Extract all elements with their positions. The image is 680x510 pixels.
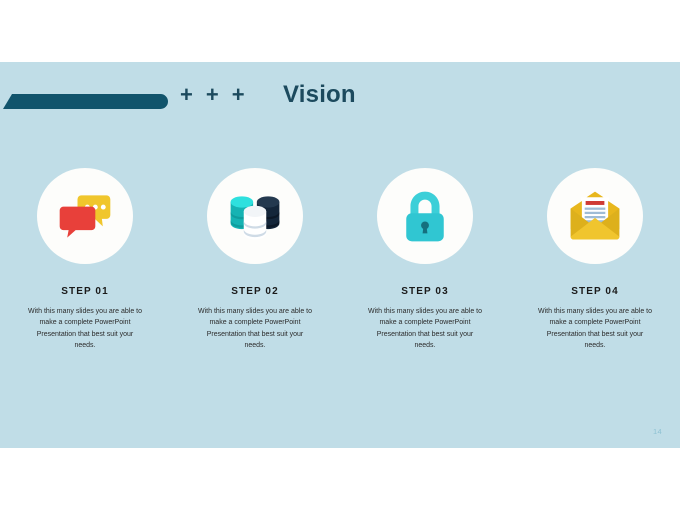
step-item-01: STEP 01 With this many slides you are ab… bbox=[0, 168, 170, 351]
slide-header: + + + Vision bbox=[0, 90, 680, 130]
plus-icon: + bbox=[206, 84, 219, 106]
open-envelope-icon bbox=[565, 186, 625, 246]
step-description: With this many slides you are able to ma… bbox=[367, 306, 483, 351]
step-description: With this many slides you are able to ma… bbox=[197, 306, 313, 351]
step-item-02: STEP 02 With this many slides you are ab… bbox=[170, 168, 340, 351]
step-icon-circle-wrap-03: STEP 03 With this many slides you are ab… bbox=[340, 168, 510, 351]
database-stack-icon bbox=[225, 186, 285, 246]
page-number: 14 bbox=[653, 427, 662, 436]
step-description: With this many slides you are able to ma… bbox=[27, 306, 143, 351]
step-title: STEP 01 bbox=[61, 286, 109, 298]
slide-surface: + + + Vision bbox=[0, 62, 680, 448]
page-title: Vision bbox=[283, 81, 356, 110]
step-description: With this many slides you are able to ma… bbox=[537, 306, 653, 351]
step-icon-circle bbox=[207, 168, 303, 264]
chat-bubbles-icon bbox=[55, 186, 115, 246]
header-plus-group: + + + bbox=[180, 84, 245, 106]
step-title: STEP 02 bbox=[231, 286, 279, 298]
step-title: STEP 04 bbox=[571, 286, 619, 298]
header-accent-bar bbox=[3, 94, 168, 109]
steps-row: STEP 01 With this many slides you are ab… bbox=[0, 168, 680, 351]
step-icon-circle bbox=[547, 168, 643, 264]
step-icon-circle bbox=[37, 168, 133, 264]
slide-root: + + + Vision bbox=[0, 0, 680, 510]
step-title: STEP 03 bbox=[401, 286, 449, 298]
step-icon-circle bbox=[377, 168, 473, 264]
plus-icon: + bbox=[180, 84, 193, 106]
step-item-04: STEP 04 With this many slides you are ab… bbox=[510, 168, 680, 351]
padlock-icon bbox=[395, 186, 455, 246]
plus-icon: + bbox=[232, 84, 245, 106]
